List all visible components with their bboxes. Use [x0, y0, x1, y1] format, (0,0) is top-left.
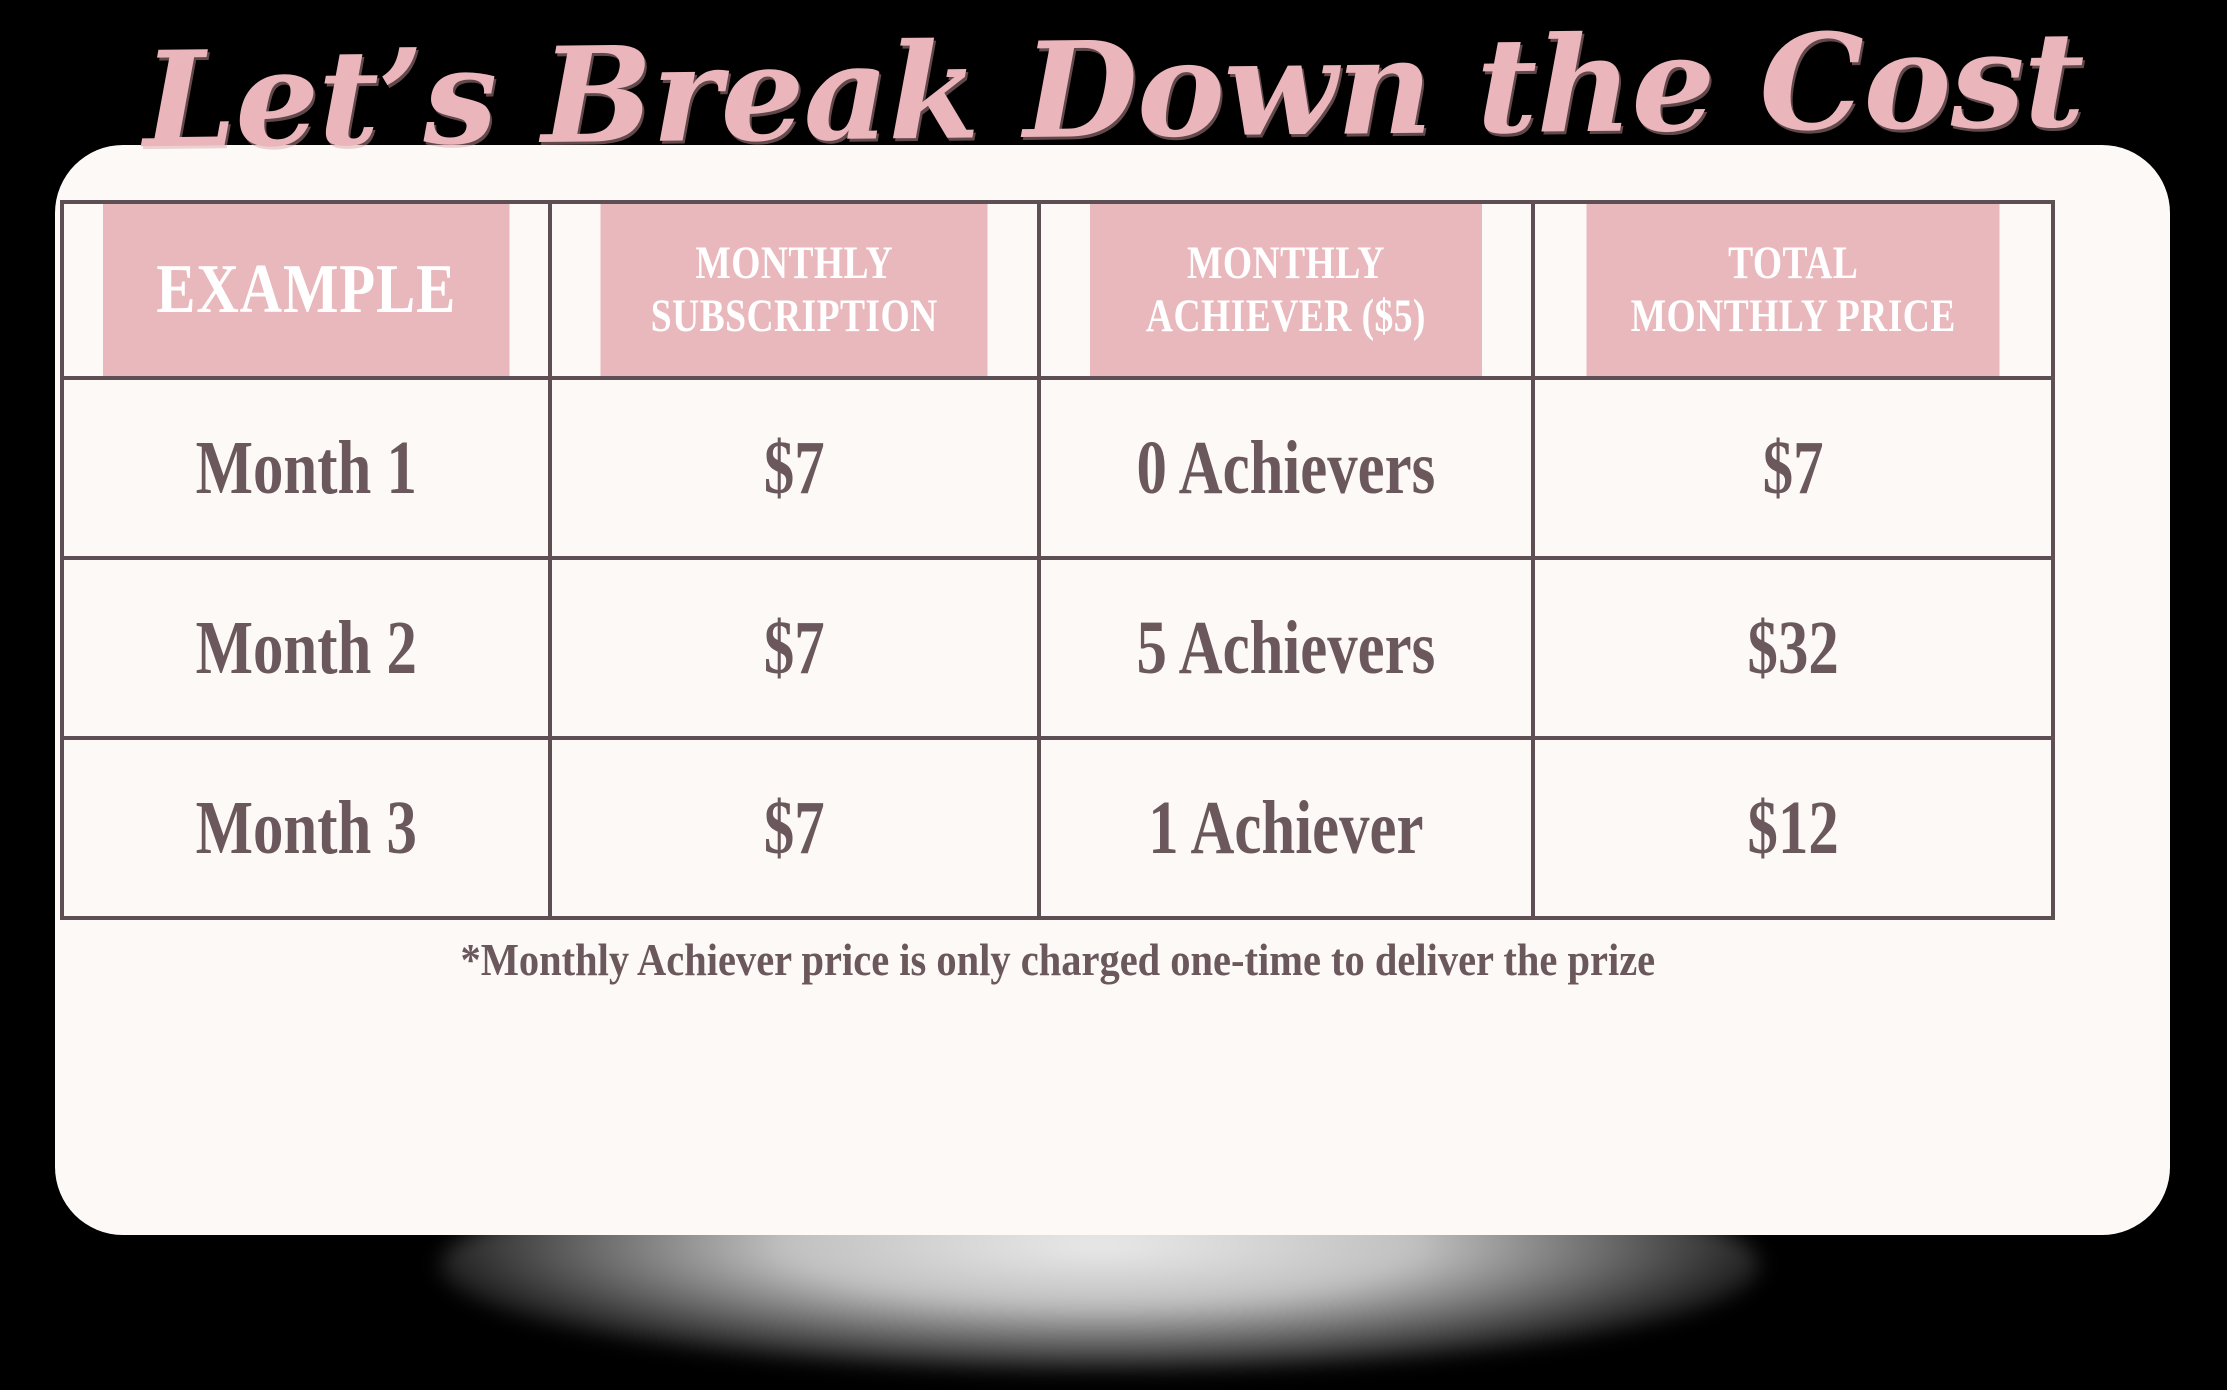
cell-total: $7 — [1585, 378, 2001, 558]
cell-achiever: 1 Achiever — [1088, 738, 1483, 918]
table-header-row: EXAMPLE MONTHLY SUBSCRIPTION MONTHLY ACH… — [62, 202, 2053, 378]
poster-canvas: Let’s Break Down the Cost EXAMPLE MONTHL… — [0, 0, 2227, 1390]
column-header-monthly-achiever-line1: MONTHLY — [1090, 237, 1482, 290]
table-row: Month 2 $7 5 Achievers $32 — [62, 558, 2053, 738]
table-body: Month 1 $7 0 Achievers $7 Month 2 $7 5 A… — [62, 378, 2053, 918]
cell-subscription: $7 — [599, 558, 990, 738]
column-header-total-monthly-price-line2: MONTHLY PRICE — [1586, 290, 1999, 343]
cost-breakdown-table: EXAMPLE MONTHLY SUBSCRIPTION MONTHLY ACH… — [60, 200, 2055, 920]
cell-example: Month 2 — [111, 558, 502, 738]
cell-total: $12 — [1585, 738, 2001, 918]
footnote: *Monthly Achiever price is only charged … — [60, 935, 2055, 986]
cell-total: $32 — [1585, 558, 2001, 738]
column-header-total-monthly-price: TOTAL MONTHLY PRICE — [1585, 202, 2001, 378]
footnote-text: *Monthly Achiever price is only charged … — [460, 935, 1655, 986]
table-row: Month 1 $7 0 Achievers $7 — [62, 378, 2053, 558]
column-header-monthly-subscription-line2: SUBSCRIPTION — [601, 290, 989, 343]
column-header-monthly-subscription: MONTHLY SUBSCRIPTION — [599, 202, 990, 378]
column-header-example-line1: EXAMPLE — [103, 251, 510, 329]
table-header: EXAMPLE MONTHLY SUBSCRIPTION MONTHLY ACH… — [62, 202, 2053, 378]
column-header-monthly-subscription-line1: MONTHLY — [601, 237, 989, 290]
column-header-total-monthly-price-line1: TOTAL — [1586, 237, 1999, 290]
cost-breakdown-table-wrapper: EXAMPLE MONTHLY SUBSCRIPTION MONTHLY ACH… — [60, 200, 2055, 920]
cell-example: Month 1 — [111, 378, 502, 558]
column-header-monthly-achiever-line2: ACHIEVER ($5) — [1090, 290, 1482, 343]
cell-achiever: 5 Achievers — [1088, 558, 1483, 738]
cell-subscription: $7 — [599, 378, 990, 558]
page-title: Let’s Break Down the Cost — [0, 13, 2227, 168]
cell-achiever: 0 Achievers — [1088, 378, 1483, 558]
cell-subscription: $7 — [599, 738, 990, 918]
column-header-example: EXAMPLE — [101, 202, 511, 378]
cell-example: Month 3 — [111, 738, 502, 918]
table-row: Month 3 $7 1 Achiever $12 — [62, 738, 2053, 918]
column-header-monthly-achiever: MONTHLY ACHIEVER ($5) — [1088, 202, 1483, 378]
